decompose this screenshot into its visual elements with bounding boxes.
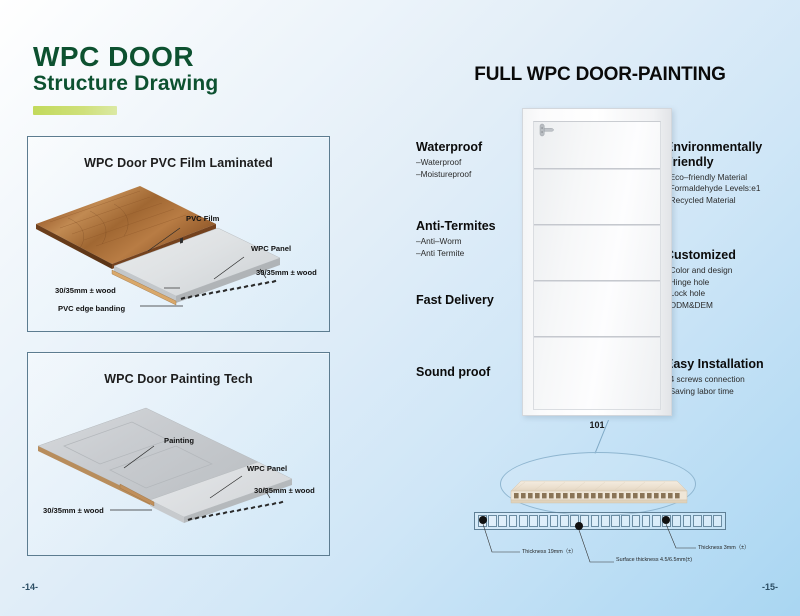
page-subtitle: Structure Drawing <box>33 72 218 96</box>
feature-item: –Lock hole <box>665 288 800 300</box>
feature-item: –Saving labor time <box>665 386 800 398</box>
strip-cell <box>488 515 497 527</box>
page-title: WPC DOOR <box>33 42 218 71</box>
headline-block: WPC DOOR Structure Drawing <box>33 42 218 115</box>
thickness-note-3mm: Thickness 3mm（±） <box>698 543 749 551</box>
strip-cell <box>632 515 641 527</box>
feature-waterproof: Waterproof –Waterproof –Moistureproof <box>416 140 526 180</box>
door-groove <box>534 336 660 338</box>
feature-environmentally-friendly: Environmentally Friendly –Eco–friendly M… <box>665 140 800 207</box>
feature-item: –Recycled Material <box>665 195 800 207</box>
feature-list: –4 screws connection –Saving labor time <box>665 374 800 398</box>
feature-list: –Anti–Worm –Anti Termite <box>416 236 526 260</box>
measure-point-surface <box>575 522 583 530</box>
callout-wpc-panel: WPC Panel <box>251 244 291 253</box>
page-number-right: -15- <box>762 582 778 592</box>
section-title: FULL WPC DOOR-PAINTING <box>400 64 800 86</box>
strip-cell <box>529 515 538 527</box>
strip-cell <box>652 515 661 527</box>
callout-thickness-left: 30/35mm ± wood <box>55 286 116 295</box>
callout-thickness-right: 30/35mm ± wood <box>254 486 315 495</box>
feature-heading: Easy Installation <box>665 357 800 372</box>
pvc-laminated-drawing <box>28 166 331 318</box>
feature-heading: Environmentally Friendly <box>665 140 800 170</box>
feature-easy-installation: Easy Installation –4 screws connection –… <box>665 357 800 397</box>
left-column: WPC DOOR Structure Drawing WPC Door PVC … <box>0 0 400 616</box>
callout-thickness-right: 30/35mm ± wood <box>256 268 317 277</box>
measure-point-thickness <box>479 516 487 524</box>
feature-item: –Eco–friendly Material <box>665 172 800 184</box>
panel-illustration-painting: Painting WPC Panel 30/35mm ± wood 30/35m… <box>28 386 329 544</box>
feature-list: –Waterproof –Moistureproof <box>416 157 526 181</box>
feature-heading: Anti-Termites <box>416 219 526 234</box>
hollow-core-panel-detail <box>501 453 697 517</box>
callout-pvc-edge-banding: PVC edge banding <box>58 304 125 313</box>
strip-cell <box>560 515 569 527</box>
strip-cell <box>713 515 722 527</box>
feature-item: –4 screws connection <box>665 374 800 386</box>
feature-list: –Eco–friendly Material –Formaldehyde Lev… <box>665 172 800 207</box>
feature-list: –Color and design –Hinge hole –Lock hole… <box>665 265 800 312</box>
door-model-label: 101 <box>522 420 672 430</box>
panel-pvc-film-laminated: WPC Door PVC Film Laminated <box>27 136 330 332</box>
cross-section-strip <box>474 512 726 530</box>
strip-cell <box>519 515 528 527</box>
feature-heading: Waterproof <box>416 140 526 155</box>
strip-cell <box>621 515 630 527</box>
panel-illustration-laminated: PVC Film WPC Panel 30/35mm ± wood 30/35m… <box>28 170 329 320</box>
feature-item: –Waterproof <box>416 157 526 169</box>
door-groove <box>534 224 660 226</box>
page-number-left: -14- <box>22 582 38 592</box>
feature-item: –Hinge hole <box>665 277 800 289</box>
detail-magnifier-ellipse <box>500 452 696 516</box>
measure-point-edge <box>662 516 670 524</box>
strip-cell <box>693 515 702 527</box>
panel-painting-tech: WPC Door Painting Tech <box>27 352 330 556</box>
strip-cell <box>539 515 548 527</box>
feature-item: –ODM&DEM <box>665 300 800 312</box>
accent-bar <box>33 106 117 115</box>
thickness-note-surface: Surface thickness 4.5/6.5mm(±) <box>616 557 692 563</box>
feature-fast-delivery: Fast Delivery <box>416 293 526 308</box>
callout-thickness-left: 30/35mm ± wood <box>43 506 104 515</box>
callout-pvc-film: PVC Film <box>186 214 219 223</box>
strip-cell <box>601 515 610 527</box>
door-leaf <box>533 121 661 410</box>
feature-item: –Formaldehyde Levels:e1 <box>665 183 800 195</box>
right-column: FULL WPC DOOR-PAINTING Waterproof –Water… <box>400 0 800 616</box>
strip-cell <box>672 515 681 527</box>
strip-cell <box>550 515 559 527</box>
strip-cell <box>642 515 651 527</box>
callout-wpc-panel: WPC Panel <box>247 464 287 473</box>
feature-anti-termites: Anti-Termites –Anti–Worm –Anti Termite <box>416 219 526 259</box>
feature-sound-proof: Sound proof <box>416 365 526 380</box>
feature-item: –Color and design <box>665 265 800 277</box>
strip-cell <box>509 515 518 527</box>
feature-item: –Moistureproof <box>416 169 526 181</box>
feature-heading: Sound proof <box>416 365 526 380</box>
strip-cell <box>611 515 620 527</box>
door-groove <box>534 168 660 170</box>
feature-item: –Anti Termite <box>416 248 526 260</box>
callout-painting: Painting <box>164 436 194 445</box>
feature-customized: Customized –Color and design –Hinge hole… <box>665 248 800 312</box>
door-illustration: 101 <box>522 108 672 416</box>
strip-cell <box>591 515 600 527</box>
strip-cell <box>498 515 507 527</box>
feature-heading: Fast Delivery <box>416 293 526 308</box>
door-handle-icon <box>539 122 558 138</box>
thickness-note-19mm: Thickness 19mm（±） <box>522 547 576 555</box>
strip-cell <box>703 515 712 527</box>
strip-cell <box>683 515 692 527</box>
feature-heading: Customized <box>665 248 800 263</box>
door-groove <box>534 280 660 282</box>
feature-item: –Anti–Worm <box>416 236 526 248</box>
